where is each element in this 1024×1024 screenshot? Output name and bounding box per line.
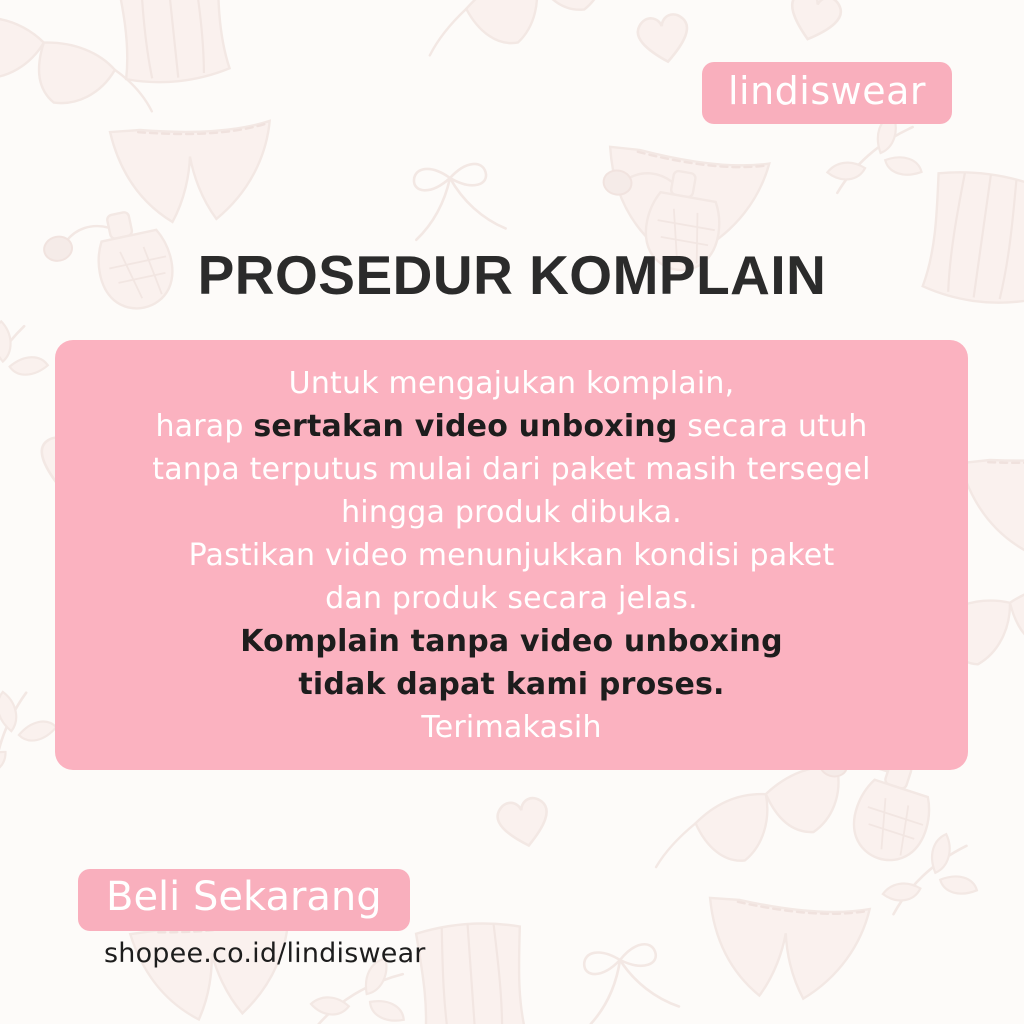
panel-line-2: harap sertakan video unboxing secara utu… <box>85 405 938 448</box>
buy-now-badge[interactable]: Beli Sekarang <box>78 869 410 931</box>
panel-line-1: Untuk mengajukan komplain, <box>85 362 938 405</box>
brand-badge[interactable]: lindiswear <box>702 62 952 124</box>
panel-line-2-pre: harap <box>155 409 253 444</box>
panel-line-3: tanpa terputus mulai dari paket masih te… <box>85 448 938 491</box>
panel-line-8: tidak dapat kami proses. <box>85 663 938 706</box>
panel-line-2-strong: sertakan video unboxing <box>253 409 677 444</box>
content-panel: Untuk mengajukan komplain, harap sertaka… <box>55 340 968 770</box>
panel-line-9: Terimakasih <box>85 706 938 749</box>
panel-line-7: Komplain tanpa video unboxing <box>85 620 938 663</box>
panel-line-4: hingga produk dibuka. <box>85 491 938 534</box>
brand-badge-label: lindiswear <box>728 72 926 110</box>
panel-line-5: Pastikan video menunjukkan kondisi paket <box>85 534 938 577</box>
page-title: PROSEDUR KOMPLAIN <box>0 243 1024 307</box>
poster-canvas: lindiswear PROSEDUR KOMPLAIN Untuk menga… <box>0 0 1024 1024</box>
shop-url[interactable]: shopee.co.id/lindiswear <box>104 938 426 969</box>
panel-line-6: dan produk secara jelas. <box>85 577 938 620</box>
buy-now-label: Beli Sekarang <box>106 877 382 917</box>
panel-line-2-post: secara utuh <box>678 409 868 444</box>
